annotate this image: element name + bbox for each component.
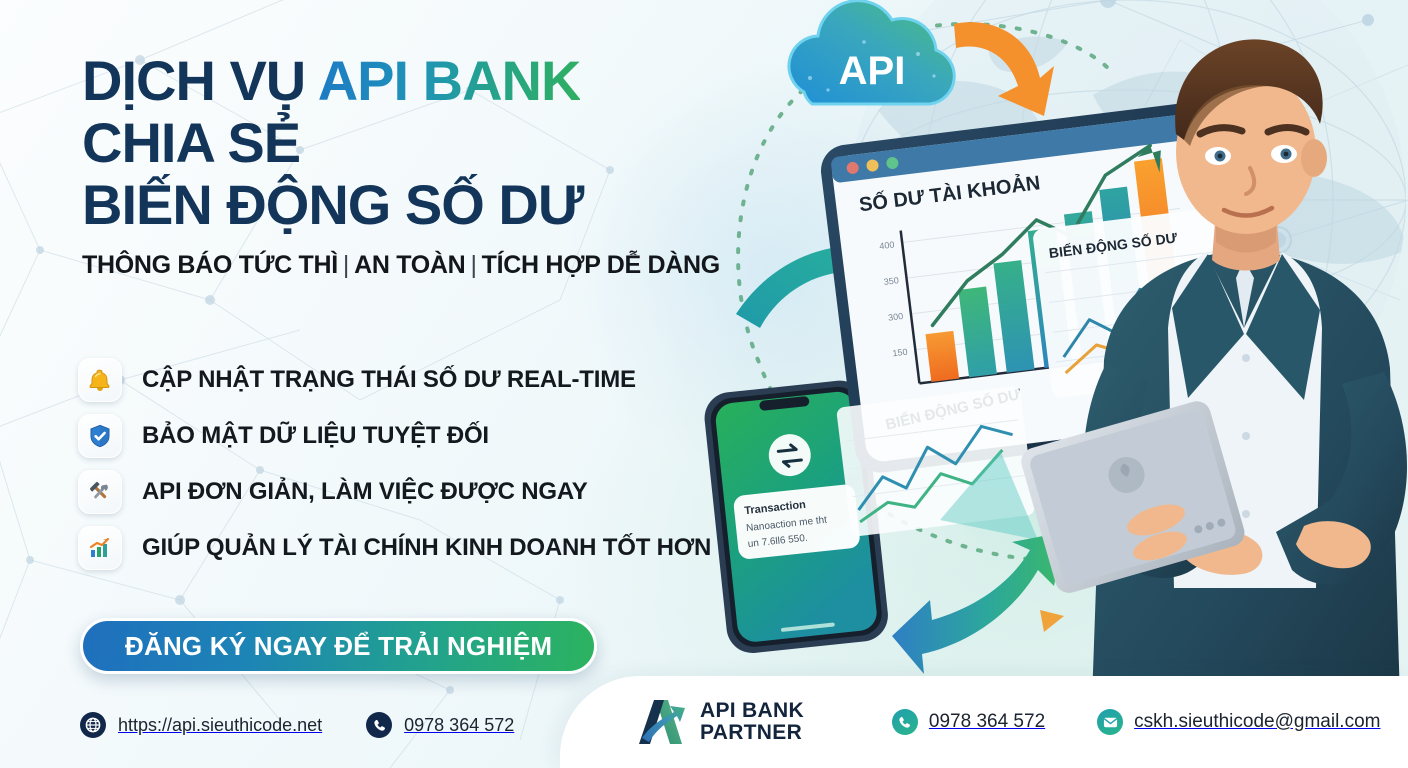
footer-contacts: 0978 364 572 cskh.sieuthicode@gmail.com (892, 709, 1381, 735)
headline-line-2: CHIA SẺ (82, 114, 722, 172)
svg-text:150: 150 (892, 347, 908, 359)
cloud-api-label: API (839, 49, 906, 93)
phone-icon (366, 712, 392, 738)
hero-illustration: API (640, 0, 1408, 700)
svg-text:400: 400 (879, 239, 895, 251)
orange-down-arrow (954, 22, 1054, 116)
feature-label: API ĐƠN GIẢN, LÀM VIỆC ĐƯỢC NGAY (142, 478, 588, 506)
feature-list: CẬP NHẬT TRẠNG THÁI SỐ DƯ REAL-TIME BẢO … (78, 352, 738, 576)
chart-icon (78, 526, 122, 570)
envelope-icon (1097, 709, 1123, 735)
register-cta-button[interactable]: ĐĂNG KÝ NGAY ĐỂ TRẢI NGHIỆM (80, 618, 597, 674)
bell-icon (78, 358, 122, 402)
copy-column: DỊCH VỤ API BANK CHIA SẺ BIẾN ĐỘNG SỐ DƯ… (82, 52, 722, 280)
headline-line-3: BIẾN ĐỘNG SỐ DƯ (82, 176, 722, 234)
website-url: https://api.sieuthicode.net (118, 715, 322, 736)
footer-email-link[interactable]: cskh.sieuthicode@gmail.com (1097, 709, 1380, 735)
feature-label: GIÚP QUẢN LÝ TÀI CHÍNH KINH DOANH TỐT HƠ… (142, 534, 711, 562)
brand-line-2: PARTNER (700, 722, 804, 744)
feature-item: API ĐƠN GIẢN, LÀM VIỆC ĐƯỢC NGAY (78, 464, 738, 520)
svg-text:300: 300 (888, 311, 904, 323)
subheadline: THÔNG BÁO TỨC THÌ|AN TOÀN|TÍCH HỢP DỄ DÀ… (82, 251, 722, 280)
cta-container: ĐĂNG KÝ NGAY ĐỂ TRẢI NGHIỆM (80, 618, 597, 674)
feature-item: CẬP NHẬT TRẠNG THÁI SỐ DƯ REAL-TIME (78, 352, 738, 408)
sync-double-arrow (892, 532, 1064, 674)
subhead-part-3: TÍCH HỢP DỄ DÀNG (482, 251, 720, 279)
feature-item: GIÚP QUẢN LÝ TÀI CHÍNH KINH DOANH TỐT HƠ… (78, 520, 738, 576)
orange-marker (1040, 610, 1064, 632)
phone-number-left: 0978 364 572 (404, 715, 514, 736)
brand-wordmark: API BANK PARTNER (700, 700, 804, 744)
subhead-separator-2: | (465, 251, 481, 279)
feature-item: BẢO MẬT DỮ LIỆU TUYỆT ĐỐI (78, 408, 738, 464)
subhead-part-2: AN TOÀN (354, 251, 465, 279)
subhead-part-1: THÔNG BÁO TỨC THÌ (82, 251, 338, 279)
phone-link-left[interactable]: 0978 364 572 (366, 712, 514, 738)
tools-icon (78, 470, 122, 514)
phone-icon (892, 709, 918, 735)
headline-accent: API BANK (318, 49, 581, 112)
feature-label: CẬP NHẬT TRẠNG THÁI SỐ DƯ REAL-TIME (142, 366, 636, 394)
svg-text:350: 350 (883, 275, 899, 287)
footer-phone-number: 0978 364 572 (929, 711, 1045, 733)
subhead-separator-1: | (338, 251, 354, 279)
globe-icon (80, 712, 106, 738)
footer-phone-link[interactable]: 0978 364 572 (892, 709, 1045, 735)
logo-mark (636, 698, 688, 746)
brand-logo: API BANK PARTNER (636, 698, 804, 746)
website-link[interactable]: https://api.sieuthicode.net (80, 712, 322, 738)
shield-icon (78, 414, 122, 458)
banner-stage: API (0, 0, 1408, 768)
footer-email-address: cskh.sieuthicode@gmail.com (1134, 711, 1380, 733)
headline-line-1: DỊCH VỤ API BANK (82, 52, 722, 110)
feature-label: BẢO MẬT DỮ LIỆU TUYỆT ĐỐI (142, 422, 489, 450)
footer-bar: API BANK PARTNER 0978 364 572 (560, 676, 1408, 768)
phone-notification-card: Transaction Nanoaction me tht un 7.6ll6 … (733, 484, 861, 560)
brand-line-1: API BANK (700, 700, 804, 722)
headline-plain: DỊCH VỤ (82, 49, 318, 112)
contact-row-left: https://api.sieuthicode.net 0978 364 572 (80, 712, 514, 738)
api-cloud: API (789, 1, 954, 104)
